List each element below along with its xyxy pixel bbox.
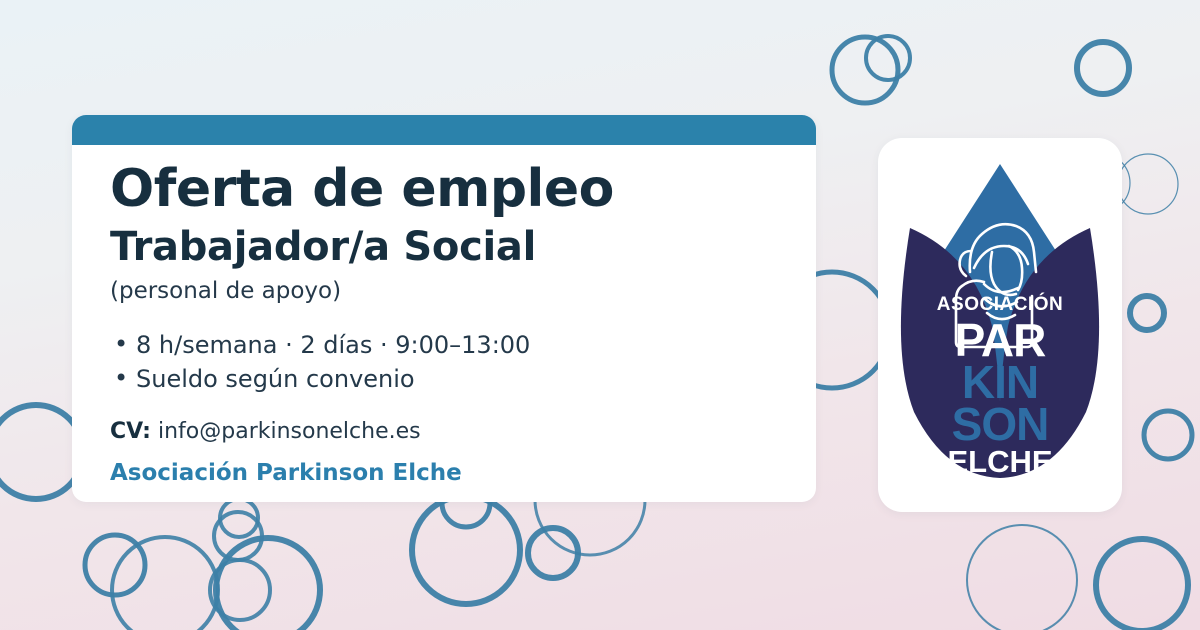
- logo-card: ASOCIACIÓN PAR KIN SON ELCHE: [878, 138, 1122, 512]
- deco-circle: [210, 560, 270, 620]
- deco-circle: [0, 405, 83, 499]
- deco-circle: [220, 499, 258, 537]
- deco-circle: [216, 538, 320, 630]
- deco-circle: [866, 36, 910, 80]
- cv-contact-line: CV: info@parkinsonelche.es: [110, 419, 790, 444]
- job-offer-card: Oferta de empleo Trabajador/a Social (pe…: [72, 115, 816, 502]
- deco-circle: [1118, 154, 1178, 214]
- deco-circle: [967, 525, 1077, 630]
- logo-line-son: SON: [952, 398, 1049, 450]
- logo-line-asociacion: ASOCIACIÓN: [937, 293, 1063, 315]
- deco-circle: [1077, 42, 1129, 94]
- asociacion-parkinson-elche-logo: ASOCIACIÓN PAR KIN SON ELCHE: [888, 160, 1112, 490]
- cv-email[interactable]: info@parkinsonelche.es: [158, 419, 421, 444]
- deco-circle: [1144, 411, 1192, 459]
- cv-label: CV:: [110, 419, 151, 444]
- card-content: Oferta de empleo Trabajador/a Social (pe…: [110, 161, 790, 486]
- page-title: Oferta de empleo: [110, 161, 790, 217]
- list-item: 8 h/semana · 2 días · 9:00–13:00: [110, 328, 790, 363]
- organization-name: Asociación Parkinson Elche: [110, 460, 790, 486]
- list-item: Sueldo según convenio: [110, 362, 790, 397]
- deco-circle: [214, 512, 262, 560]
- card-accent-bar: [72, 115, 816, 145]
- deco-circle: [1096, 539, 1188, 630]
- deco-circle: [832, 37, 898, 103]
- deco-circle: [112, 537, 218, 630]
- deco-circle: [528, 528, 578, 578]
- deco-circle: [85, 535, 145, 595]
- job-position-title: Trabajador/a Social: [110, 225, 790, 270]
- logo-line-elche: ELCHE: [947, 444, 1052, 479]
- deco-circle: [412, 496, 520, 604]
- position-note: (personal de apoyo): [110, 278, 790, 306]
- deco-circle: [1130, 296, 1164, 330]
- job-details-list: 8 h/semana · 2 días · 9:00–13:00 Sueldo …: [110, 328, 790, 398]
